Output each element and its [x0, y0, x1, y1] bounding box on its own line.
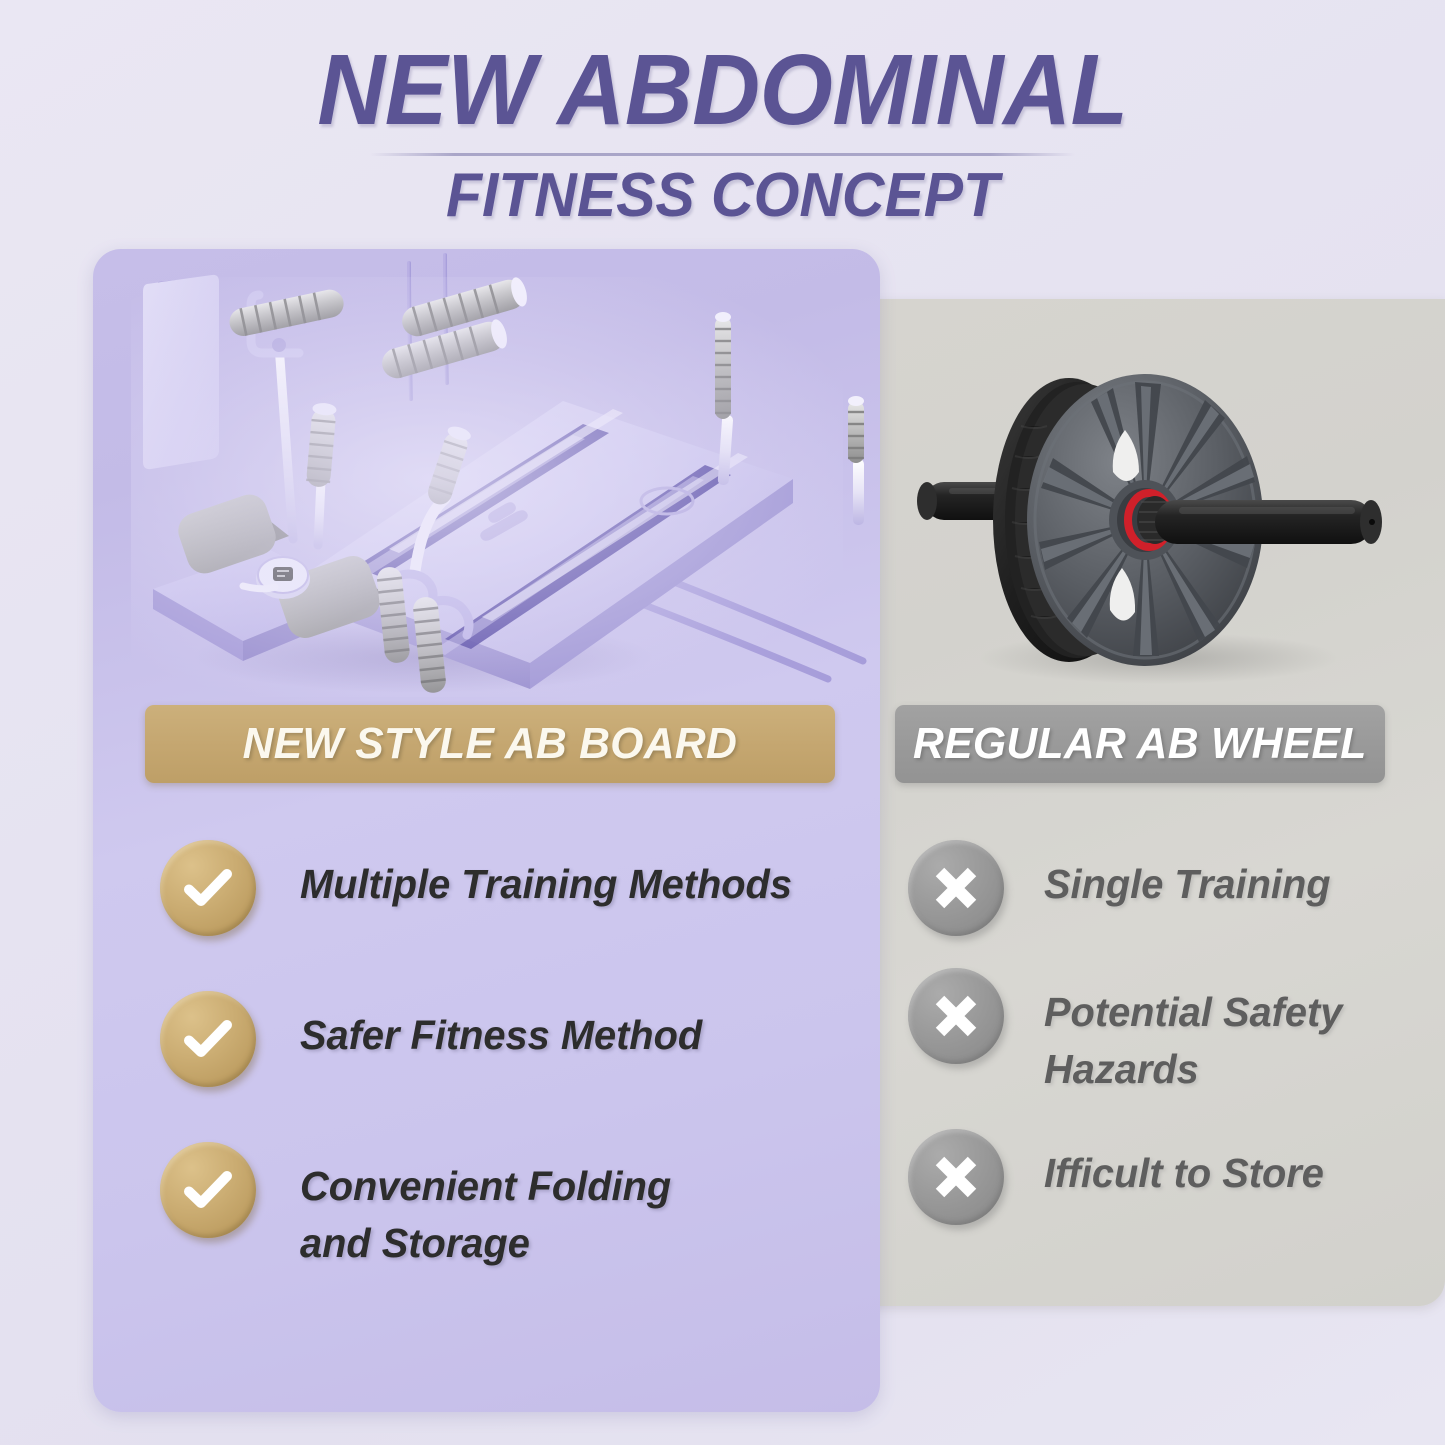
board-counter-display	[256, 557, 310, 599]
list-item: Multiple Training Methods	[160, 840, 850, 936]
cross-icon	[908, 1129, 1004, 1225]
ab-wheel-product-image	[869, 330, 1445, 700]
pros-item-label: Convenient Folding and Storage	[300, 1142, 707, 1271]
cons-feature-list: Single Training Potential Safety Hazards…	[908, 840, 1378, 1257]
board-accessory-rollers	[379, 276, 530, 382]
cons-item-label: Single Training	[1044, 840, 1331, 913]
banner-left-label: NEW STYLE AB BOARD	[243, 719, 737, 769]
cons-item-label: Ifficult to Store	[1044, 1129, 1324, 1202]
page-title-sub: FITNESS CONCEPT	[36, 162, 1409, 230]
board-accessory-mat	[143, 275, 219, 469]
header: NEW ABDOMINAL FITNESS CONCEPT	[0, 36, 1445, 230]
ab-board-product-image	[93, 249, 880, 709]
check-icon	[160, 1142, 256, 1238]
page-title-main: NEW ABDOMINAL	[43, 36, 1401, 144]
title-divider	[370, 153, 1075, 156]
check-icon	[160, 840, 256, 936]
banner-right-label: REGULAR AB WHEEL	[913, 719, 1367, 769]
label-banner-regular-ab-wheel: REGULAR AB WHEEL	[895, 705, 1385, 783]
pros-item-label: Safer Fitness Method	[300, 991, 702, 1064]
list-item: Potential Safety Hazards	[908, 968, 1378, 1097]
list-item: Ifficult to Store	[908, 1129, 1378, 1225]
pros-item-label: Multiple Training Methods	[300, 840, 792, 913]
list-item: Safer Fitness Method	[160, 991, 850, 1087]
cons-item-label: Potential Safety Hazards	[1044, 968, 1364, 1097]
check-icon	[160, 991, 256, 1087]
list-item: Single Training	[908, 840, 1378, 936]
pros-feature-list: Multiple Training Methods Safer Fitness …	[160, 840, 850, 1326]
ab-wheel-handle-right	[1155, 500, 1382, 544]
label-banner-new-ab-board: NEW STYLE AB BOARD	[145, 705, 835, 783]
cross-icon	[908, 840, 1004, 936]
cross-icon	[908, 968, 1004, 1064]
list-item: Convenient Folding and Storage	[160, 1142, 850, 1271]
infographic-canvas: NEW ABDOMINAL FITNESS CONCEPT	[0, 0, 1445, 1445]
board-handle-center	[306, 402, 337, 545]
